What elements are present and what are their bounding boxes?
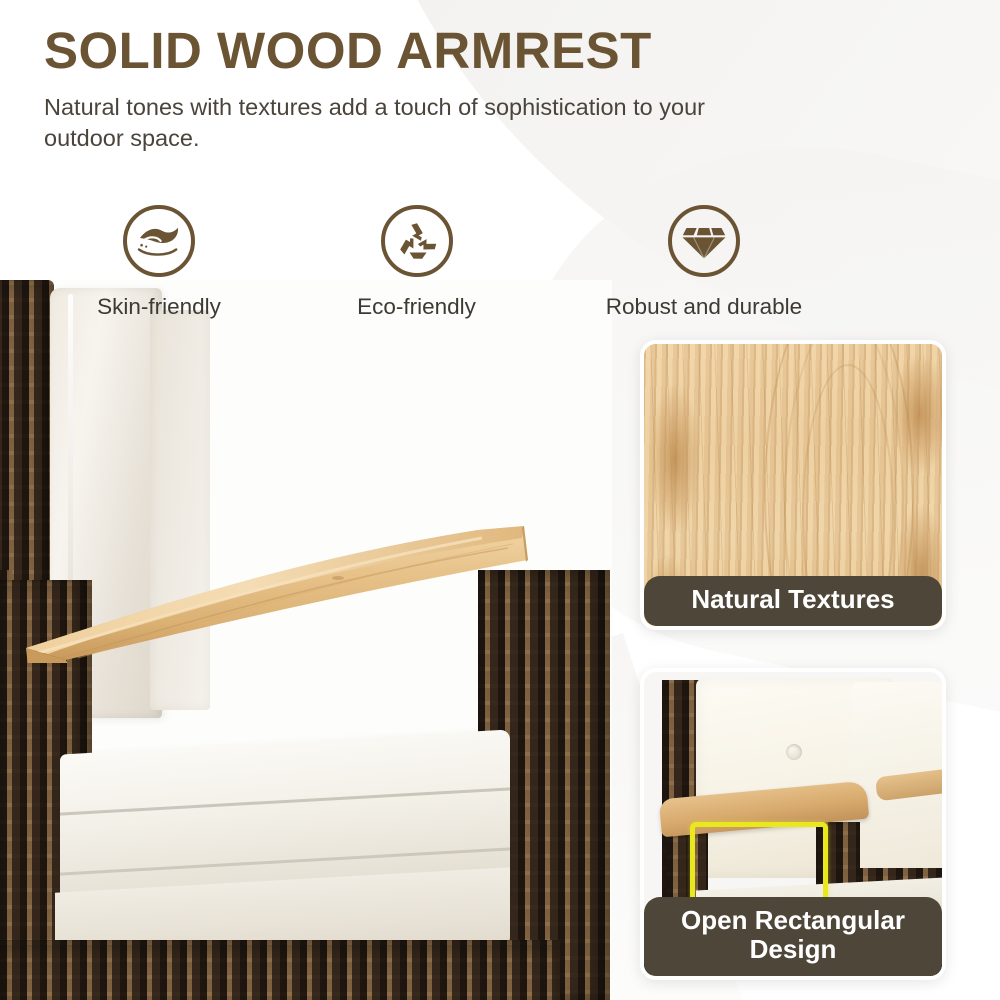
card-caption-natural-textures: Natural Textures [644,576,942,626]
chair-base-wicker [0,940,560,1000]
wood-armrest [8,508,564,663]
card-caption-open-rectangular-design: Open Rectangular Design [644,897,942,976]
card-natural-textures[interactable]: Natural Textures [640,340,946,630]
feature-label: Skin-friendly [97,294,221,320]
caption-line-2: Design [750,934,837,964]
mini-cushion-button [786,744,802,760]
card-open-rectangular-design[interactable]: Open Rectangular Design [640,668,946,980]
feature-item-robust-durable: Robust and durable [559,205,849,320]
hand-water-icon [123,205,195,277]
wood-knot [650,384,700,534]
caption-line-1: Open Rectangular [681,905,905,935]
feature-item-eco-friendly: Eco-friendly [274,205,559,320]
header: SOLID WOOD ARMREST Natural tones with te… [44,24,844,155]
recycle-icon [381,205,453,277]
hero-product-photo [0,280,612,1000]
feature-label: Robust and durable [606,294,802,320]
feature-item-skin-friendly: Skin-friendly [44,205,274,320]
diamond-icon [668,205,740,277]
feature-list: Skin-friendly Eco-friendly [44,205,849,320]
page-subtitle: Natural tones with textures add a touch … [44,92,744,155]
page-title: SOLID WOOD ARMREST [44,24,844,78]
feature-label: Eco-friendly [357,294,476,320]
